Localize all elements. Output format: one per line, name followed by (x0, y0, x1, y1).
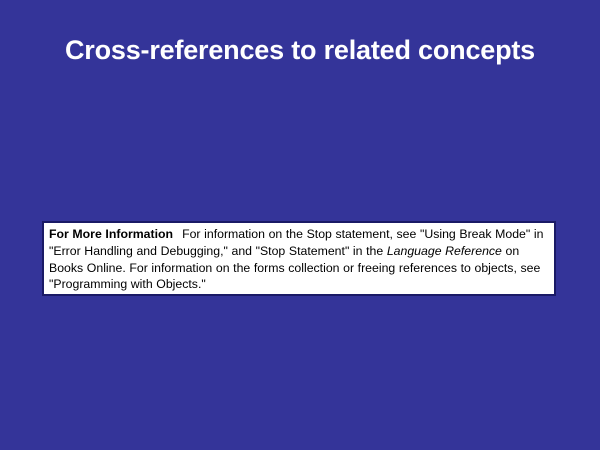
callout-text: For More InformationFor information on t… (49, 226, 549, 293)
page-title: Cross-references to related concepts (0, 34, 600, 66)
slide-canvas: Cross-references to related concepts For… (0, 0, 600, 450)
callout-lead-in-label: For More Information (49, 227, 173, 241)
for-more-information-callout-box: For More InformationFor information on t… (42, 221, 556, 296)
callout-italic-book-title: Language Reference (387, 244, 502, 258)
